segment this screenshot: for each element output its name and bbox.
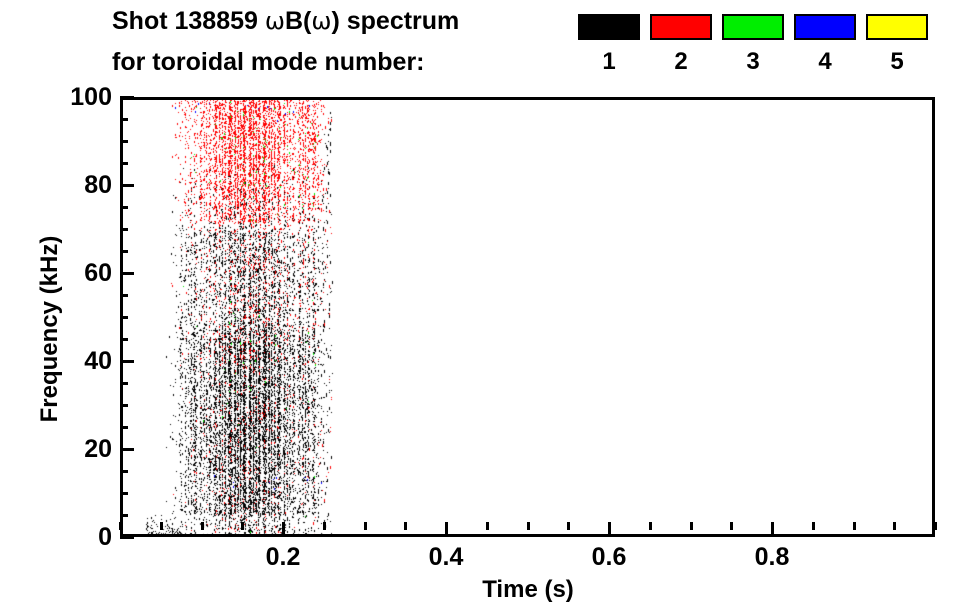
- legend-swatch-mode-2: [650, 14, 712, 40]
- x-tick-minor: [486, 522, 489, 530]
- legend-label-mode-1: 1: [578, 48, 640, 76]
- x-tick-minor: [201, 522, 204, 530]
- legend-swatch-mode-1: [578, 14, 640, 40]
- y-tick-minor: [120, 470, 128, 473]
- x-tick-minor: [160, 522, 163, 530]
- title-b-open: B(: [285, 7, 311, 35]
- y-tick-label-60: 60: [84, 259, 112, 287]
- omega-symbol-2: ω: [311, 7, 331, 35]
- x-tick-minor: [934, 522, 937, 530]
- y-tick-minor: [120, 162, 128, 165]
- y-tick-minor: [120, 492, 128, 495]
- x-tick-label-0.2: 0.2: [243, 543, 323, 571]
- y-tick-minor: [120, 206, 128, 209]
- figure-title-line-1: Shot 138859 ωB(ω) spectrum: [112, 6, 459, 36]
- x-tick-minor: [812, 522, 815, 530]
- figure-title-line-2: for toroidal mode number:: [112, 47, 425, 77]
- x-tick-minor: [649, 522, 652, 530]
- x-tick-label-0.6: 0.6: [569, 543, 649, 571]
- y-tick-minor: [120, 118, 128, 121]
- y-tick-major: [120, 448, 134, 451]
- y-tick-major: [120, 272, 134, 275]
- y-tick-minor: [120, 514, 128, 517]
- title-spectrum-text: ) spectrum: [331, 7, 459, 35]
- legend-entry-mode-1[interactable]: 1: [578, 12, 646, 90]
- x-tick-label-0.8: 0.8: [732, 543, 812, 571]
- x-tick-major: [445, 522, 448, 536]
- y-tick-minor: [120, 140, 128, 143]
- x-tick-minor: [527, 522, 530, 530]
- y-tick-label-40: 40: [84, 347, 112, 375]
- omega-symbol-1: ω: [265, 7, 285, 35]
- x-axis-ticks: [0, 522, 963, 538]
- x-tick-minor: [853, 522, 856, 530]
- x-tick-major: [771, 522, 774, 536]
- legend-label-mode-5: 5: [866, 48, 928, 76]
- title-shot-text: Shot 138859: [112, 7, 265, 35]
- x-tick-major: [608, 522, 611, 536]
- y-tick-major: [120, 184, 134, 187]
- x-tick-minor: [241, 522, 244, 530]
- y-tick-minor: [120, 338, 128, 341]
- legend-label-mode-3: 3: [722, 48, 784, 76]
- y-tick-major: [120, 360, 134, 363]
- x-tick-minor: [404, 522, 407, 530]
- y-tick-label-100: 100: [70, 83, 112, 111]
- x-tick-minor: [730, 522, 733, 530]
- y-tick-minor: [120, 316, 128, 319]
- x-tick-label-0.4: 0.4: [406, 543, 486, 571]
- plot-area: [120, 97, 935, 537]
- x-tick-minor: [364, 522, 367, 530]
- y-tick-minor: [120, 228, 128, 231]
- y-tick-minor: [120, 250, 128, 253]
- legend-entry-mode-2[interactable]: 2: [650, 12, 718, 90]
- y-tick-minor: [120, 294, 128, 297]
- legend-entry-mode-3[interactable]: 3: [722, 12, 790, 90]
- legend-swatch-mode-4: [794, 14, 856, 40]
- y-tick-minor: [120, 382, 128, 385]
- x-tick-minor: [567, 522, 570, 530]
- x-tick-minor: [893, 522, 896, 530]
- y-axis-title: Frequency (kHz): [37, 179, 63, 479]
- spectrogram-figure: Shot 138859 ωB(ω) spectrum for toroidal …: [0, 0, 963, 615]
- legend-entry-mode-4[interactable]: 4: [794, 12, 862, 90]
- y-tick-minor: [120, 426, 128, 429]
- spectrogram-canvas: [123, 100, 935, 537]
- x-axis-title: Time (s): [368, 576, 688, 604]
- legend-label-mode-4: 4: [794, 48, 856, 76]
- legend-entry-mode-5[interactable]: 5: [866, 12, 934, 90]
- legend-swatch-mode-3: [722, 14, 784, 40]
- x-tick-minor: [690, 522, 693, 530]
- y-tick-minor: [120, 404, 128, 407]
- x-tick-minor: [323, 522, 326, 530]
- mode-number-legend: 12345: [578, 12, 958, 90]
- y-tick-label-20: 20: [84, 435, 112, 463]
- y-tick-label-80: 80: [84, 171, 112, 199]
- legend-swatch-mode-5: [866, 14, 928, 40]
- legend-label-mode-2: 2: [650, 48, 712, 76]
- y-tick-major: [120, 96, 134, 99]
- x-tick-minor: [119, 522, 122, 530]
- x-tick-major: [282, 522, 285, 536]
- y-tick-label-0: 0: [98, 523, 112, 551]
